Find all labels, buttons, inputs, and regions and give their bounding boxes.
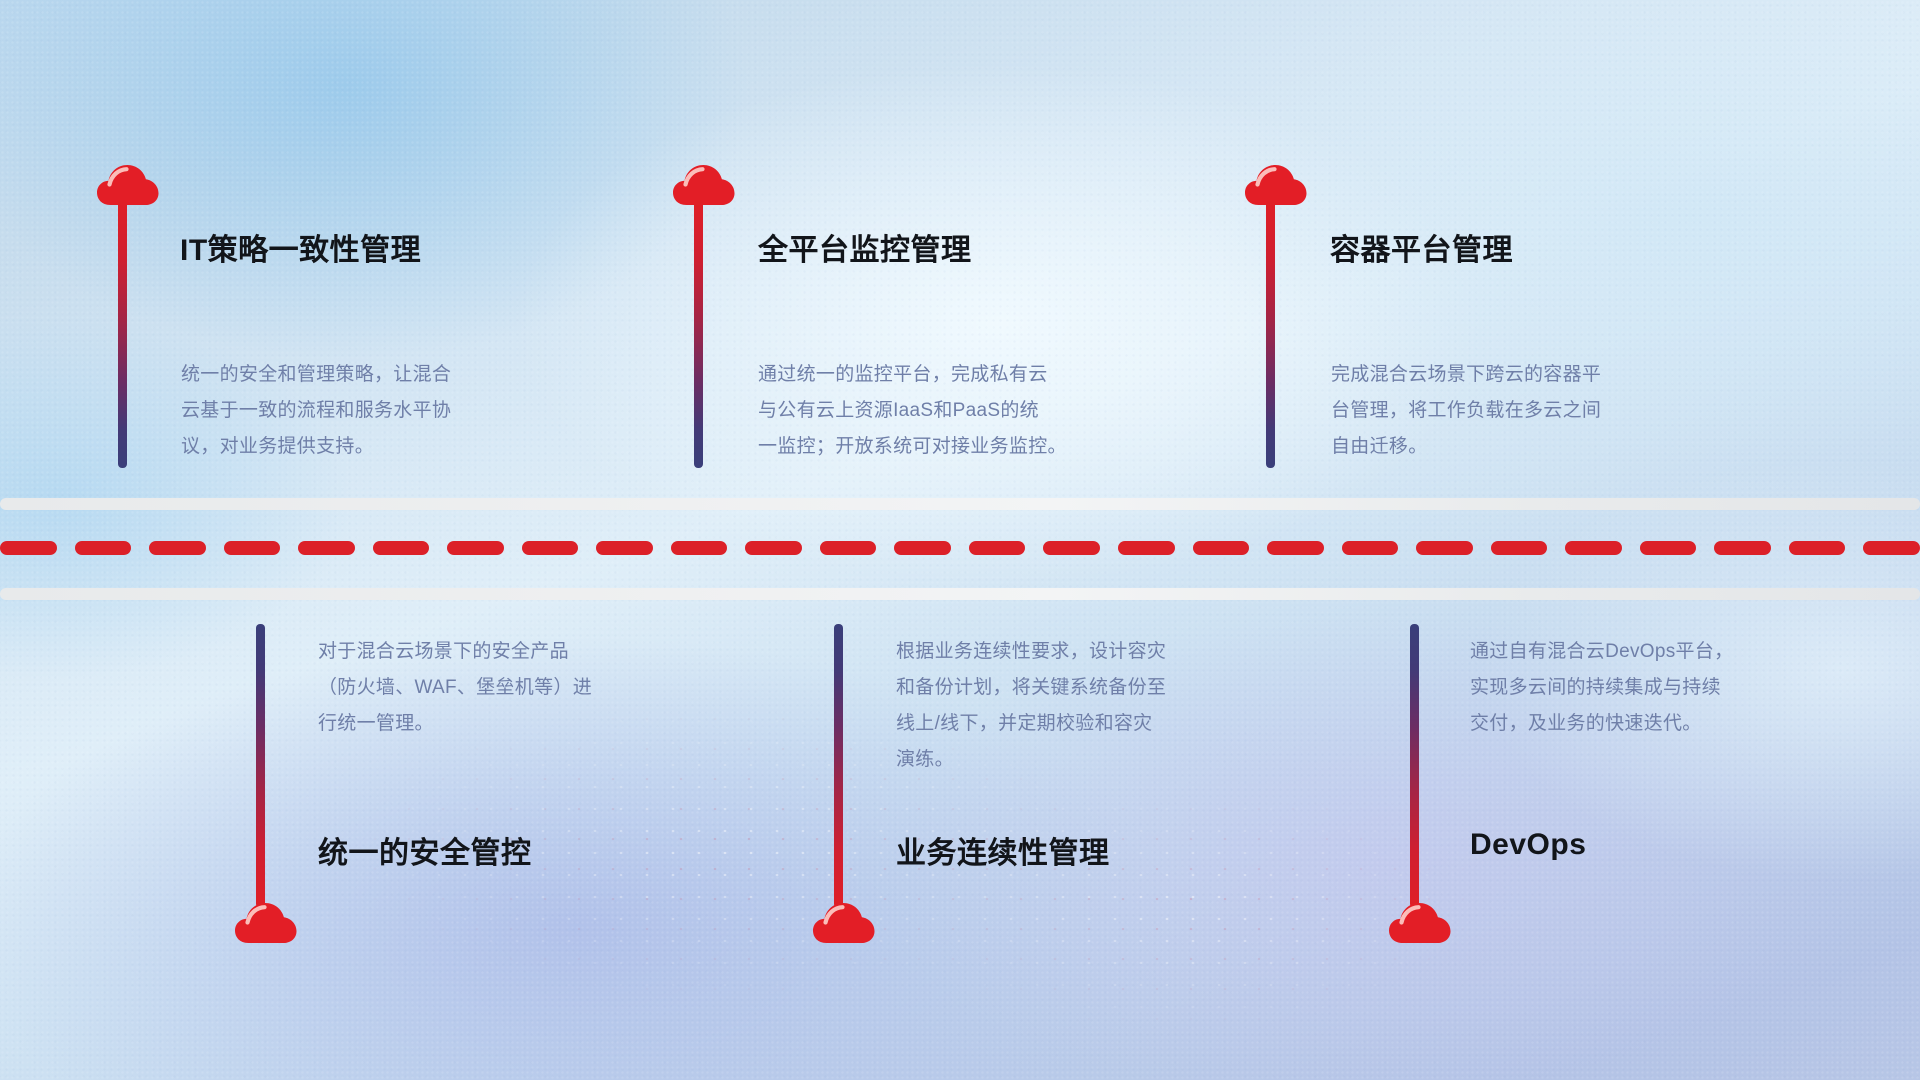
road-dash bbox=[1789, 541, 1846, 555]
desc-line: 一监控；开放系统可对接业务监控。 bbox=[758, 429, 1067, 465]
connector-line bbox=[256, 624, 265, 908]
road-dash bbox=[1565, 541, 1622, 555]
road-dash bbox=[75, 541, 132, 555]
cloud-icon bbox=[234, 898, 298, 948]
road-dash bbox=[969, 541, 1026, 555]
road-dash bbox=[1640, 541, 1697, 555]
connector-line bbox=[694, 200, 703, 468]
desc-line: 线上/线下，并定期校验和容灾 bbox=[896, 706, 1166, 742]
cloud-icon bbox=[672, 160, 736, 210]
road-dash bbox=[894, 541, 951, 555]
road-dash bbox=[1118, 541, 1175, 555]
road-dash bbox=[298, 541, 355, 555]
cloud-icon bbox=[96, 160, 160, 210]
card-title: 全平台监控管理 bbox=[758, 225, 972, 269]
card-description: 通过统一的监控平台，完成私有云 与公有云上资源IaaS和PaaS的统 一监控；开… bbox=[758, 357, 1067, 465]
road-dash bbox=[671, 541, 728, 555]
road-dash bbox=[745, 541, 802, 555]
road-center-dashed-line bbox=[0, 540, 1920, 556]
desc-line: 和备份计划，将关键系统备份至 bbox=[896, 670, 1166, 706]
cloud-icon bbox=[1388, 898, 1452, 948]
road-dash bbox=[1714, 541, 1771, 555]
cloud-icon bbox=[812, 898, 876, 948]
desc-line: 根据业务连续性要求，设计容灾 bbox=[896, 634, 1166, 670]
card-description: 根据业务连续性要求，设计容灾 和备份计划，将关键系统备份至 线上/线下，并定期校… bbox=[896, 634, 1166, 778]
card-title: 统一的安全管控 bbox=[318, 828, 532, 872]
connector-line bbox=[1266, 200, 1275, 468]
card-description: 通过自有混合云DevOps平台， 实现多云间的持续集成与持续 交付，及业务的快速… bbox=[1470, 634, 1733, 742]
card-title: 容器平台管理 bbox=[1330, 225, 1513, 269]
desc-line: 议，对业务提供支持。 bbox=[181, 429, 451, 465]
desc-line: 实现多云间的持续集成与持续 bbox=[1470, 670, 1733, 706]
road-dash bbox=[1267, 541, 1324, 555]
desc-line: 通过自有混合云DevOps平台， bbox=[1470, 634, 1733, 670]
desc-line: 台管理，将工作负载在多云之间 bbox=[1331, 393, 1601, 429]
road-dash bbox=[1416, 541, 1473, 555]
desc-line: 自由迁移。 bbox=[1331, 429, 1601, 465]
card-title: 业务连续性管理 bbox=[896, 828, 1110, 872]
road-dash bbox=[1043, 541, 1100, 555]
desc-line: 演练。 bbox=[896, 742, 1166, 778]
desc-line: 对于混合云场景下的安全产品 bbox=[318, 634, 592, 670]
road-dash bbox=[224, 541, 281, 555]
infographic-canvas: IT策略一致性管理 统一的安全和管理策略，让混合 云基于一致的流程和服务水平协 … bbox=[0, 0, 1920, 1080]
road-dash bbox=[0, 541, 57, 555]
connector-line bbox=[834, 624, 843, 908]
road-dash bbox=[1193, 541, 1250, 555]
desc-line: 与公有云上资源IaaS和PaaS的统 bbox=[758, 393, 1067, 429]
desc-line: 完成混合云场景下跨云的容器平 bbox=[1331, 357, 1601, 393]
card-title: DevOps bbox=[1470, 828, 1586, 862]
road-dash bbox=[1342, 541, 1399, 555]
card-description: 完成混合云场景下跨云的容器平 台管理，将工作负载在多云之间 自由迁移。 bbox=[1331, 357, 1601, 465]
card-description: 统一的安全和管理策略，让混合 云基于一致的流程和服务水平协 议，对业务提供支持。 bbox=[181, 357, 451, 465]
road-dash bbox=[820, 541, 877, 555]
card-description: 对于混合云场景下的安全产品 （防火墙、WAF、堡垒机等）进 行统一管理。 bbox=[318, 634, 592, 742]
desc-line: 行统一管理。 bbox=[318, 706, 592, 742]
connector-line bbox=[118, 200, 127, 468]
road-dash bbox=[447, 541, 504, 555]
road-dash bbox=[373, 541, 430, 555]
road-dash bbox=[149, 541, 206, 555]
desc-line: 通过统一的监控平台，完成私有云 bbox=[758, 357, 1067, 393]
desc-line: 统一的安全和管理策略，让混合 bbox=[181, 357, 451, 393]
connector-line bbox=[1410, 624, 1419, 908]
card-title: IT策略一致性管理 bbox=[180, 225, 421, 269]
road-dash bbox=[1491, 541, 1548, 555]
road-dash bbox=[1863, 541, 1920, 555]
road-edge-bottom bbox=[0, 588, 1920, 600]
desc-line: （防火墙、WAF、堡垒机等）进 bbox=[318, 670, 592, 706]
road-edge-top bbox=[0, 498, 1920, 510]
cloud-icon bbox=[1244, 160, 1308, 210]
road-dash bbox=[522, 541, 579, 555]
desc-line: 交付，及业务的快速迭代。 bbox=[1470, 706, 1733, 742]
road-dash bbox=[596, 541, 653, 555]
desc-line: 云基于一致的流程和服务水平协 bbox=[181, 393, 451, 429]
